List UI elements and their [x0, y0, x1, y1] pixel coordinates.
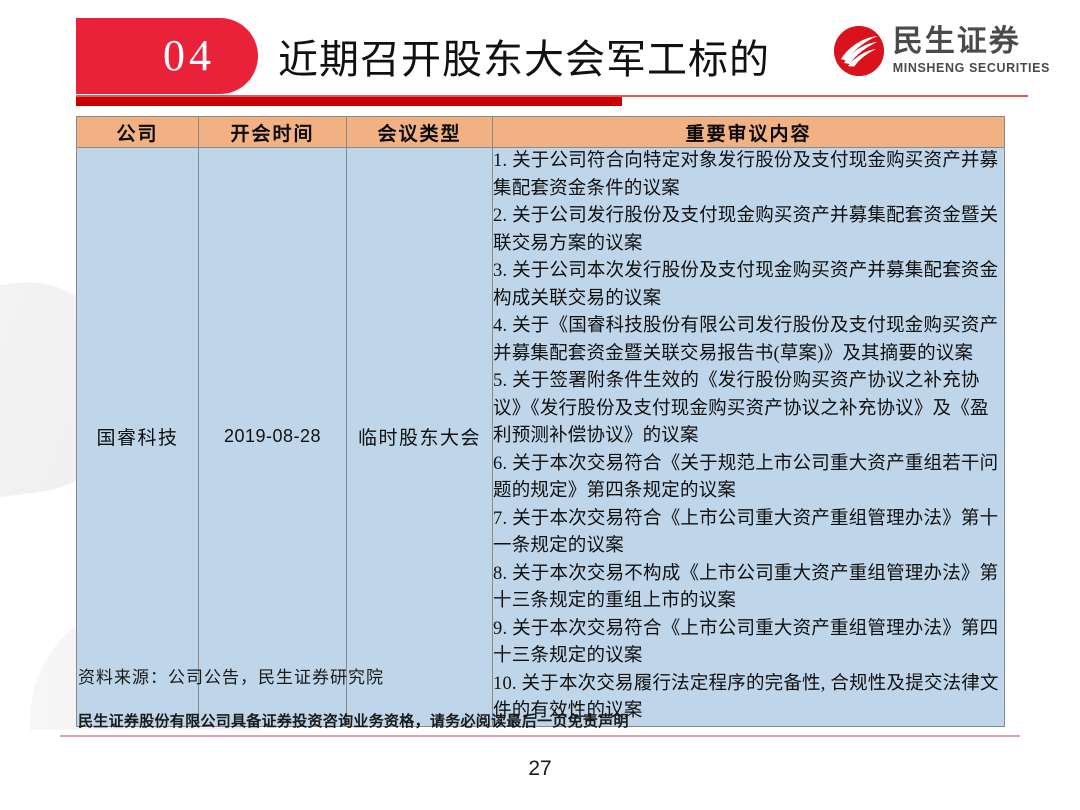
column-header-agenda: 重要审议内容 — [493, 117, 1005, 148]
agenda-item: 4. 关于《国睿科技股份有限公司发行股份及支付现金购买资产并募集配套资金暨关联交… — [493, 313, 1004, 368]
section-number-badge: 04 — [76, 18, 258, 94]
cell-date: 2019-08-28 — [199, 148, 347, 727]
page-title: 近期召开股东大会军工标的 — [278, 34, 770, 86]
meeting-table-container: 公司 开会时间 会议类型 重要审议内容 国睿科技 2019-08-28 临时股东… — [76, 116, 1004, 727]
agenda-item: 5. 关于签署附条件生效的《发行股份购买资产协议之补充协议》《发行股份及支付现金… — [493, 368, 1004, 451]
brand-name-en: MINSHENG SECURITIES — [893, 62, 1050, 75]
footer-disclaimer: 民生证券股份有限公司具备证券投资咨询业务资格，请务必阅读最后一页免责声明 — [78, 710, 629, 731]
column-header-meeting-type: 会议类型 — [347, 117, 493, 148]
slide-canvas: 行行查 Hanghangcha 行行查 查 04 近期召开股东大会军工标的 民生… — [0, 0, 1080, 810]
table-header: 公司 开会时间 会议类型 重要审议内容 — [77, 117, 1005, 148]
agenda-item: 8. 关于本次交易不构成《上市公司重大资产重组管理办法》第十三条规定的重组上市的… — [493, 561, 1004, 616]
agenda-item: 2. 关于公司发行股份及支付现金购买资产并募集配套资金暨关联交易方案的议案 — [493, 203, 1004, 258]
agenda-item: 7. 关于本次交易符合《上市公司重大资产重组管理办法》第十一条规定的议案 — [493, 506, 1004, 561]
table-body: 国睿科技 2019-08-28 临时股东大会 1. 关于公司符合向特定对象发行股… — [77, 148, 1005, 727]
brand-name-cn: 民生证券 — [893, 27, 1050, 57]
section-number-label: 04 — [119, 34, 215, 78]
meeting-table: 公司 开会时间 会议类型 重要审议内容 国睿科技 2019-08-28 临时股东… — [76, 116, 1005, 727]
table-row: 国睿科技 2019-08-28 临时股东大会 1. 关于公司符合向特定对象发行股… — [77, 148, 1005, 727]
header-divider-thick — [76, 97, 622, 106]
page-number: 27 — [0, 757, 1080, 781]
table-header-row: 公司 开会时间 会议类型 重要审议内容 — [77, 117, 1005, 148]
agenda-item: 6. 关于本次交易符合《关于规范上市公司重大资产重组若干问题的规定》第四条规定的… — [493, 451, 1004, 506]
slide-header: 04 近期召开股东大会军工标的 民生证券 MINSHENG SECURITIES — [0, 0, 1080, 116]
source-note: 资料来源：公司公告，民生证券研究院 — [78, 663, 384, 688]
column-header-date: 开会时间 — [199, 117, 347, 148]
minsheng-logo-icon — [834, 26, 884, 76]
agenda-item: 9. 关于本次交易符合《上市公司重大资产重组管理办法》第四十三条规定的议案 — [493, 616, 1004, 671]
agenda-item: 3. 关于公司本次发行股份及支付现金购买资产并募集配套资金构成关联交易的议案 — [493, 258, 1004, 313]
cell-company: 国睿科技 — [77, 148, 199, 727]
cell-agenda-items: 1. 关于公司符合向特定对象发行股份及支付现金购买资产并募集配套资金条件的议案 … — [493, 148, 1005, 727]
cell-meeting-type: 临时股东大会 — [347, 148, 493, 727]
brand-wordmark: 民生证券 MINSHENG SECURITIES — [893, 27, 1050, 75]
brand-logo: 民生证券 MINSHENG SECURITIES — [834, 26, 1050, 76]
agenda-item: 1. 关于公司符合向特定对象发行股份及支付现金购买资产并募集配套资金条件的议案 — [493, 148, 1004, 203]
footer-divider — [60, 735, 1020, 737]
column-header-company: 公司 — [77, 117, 199, 148]
